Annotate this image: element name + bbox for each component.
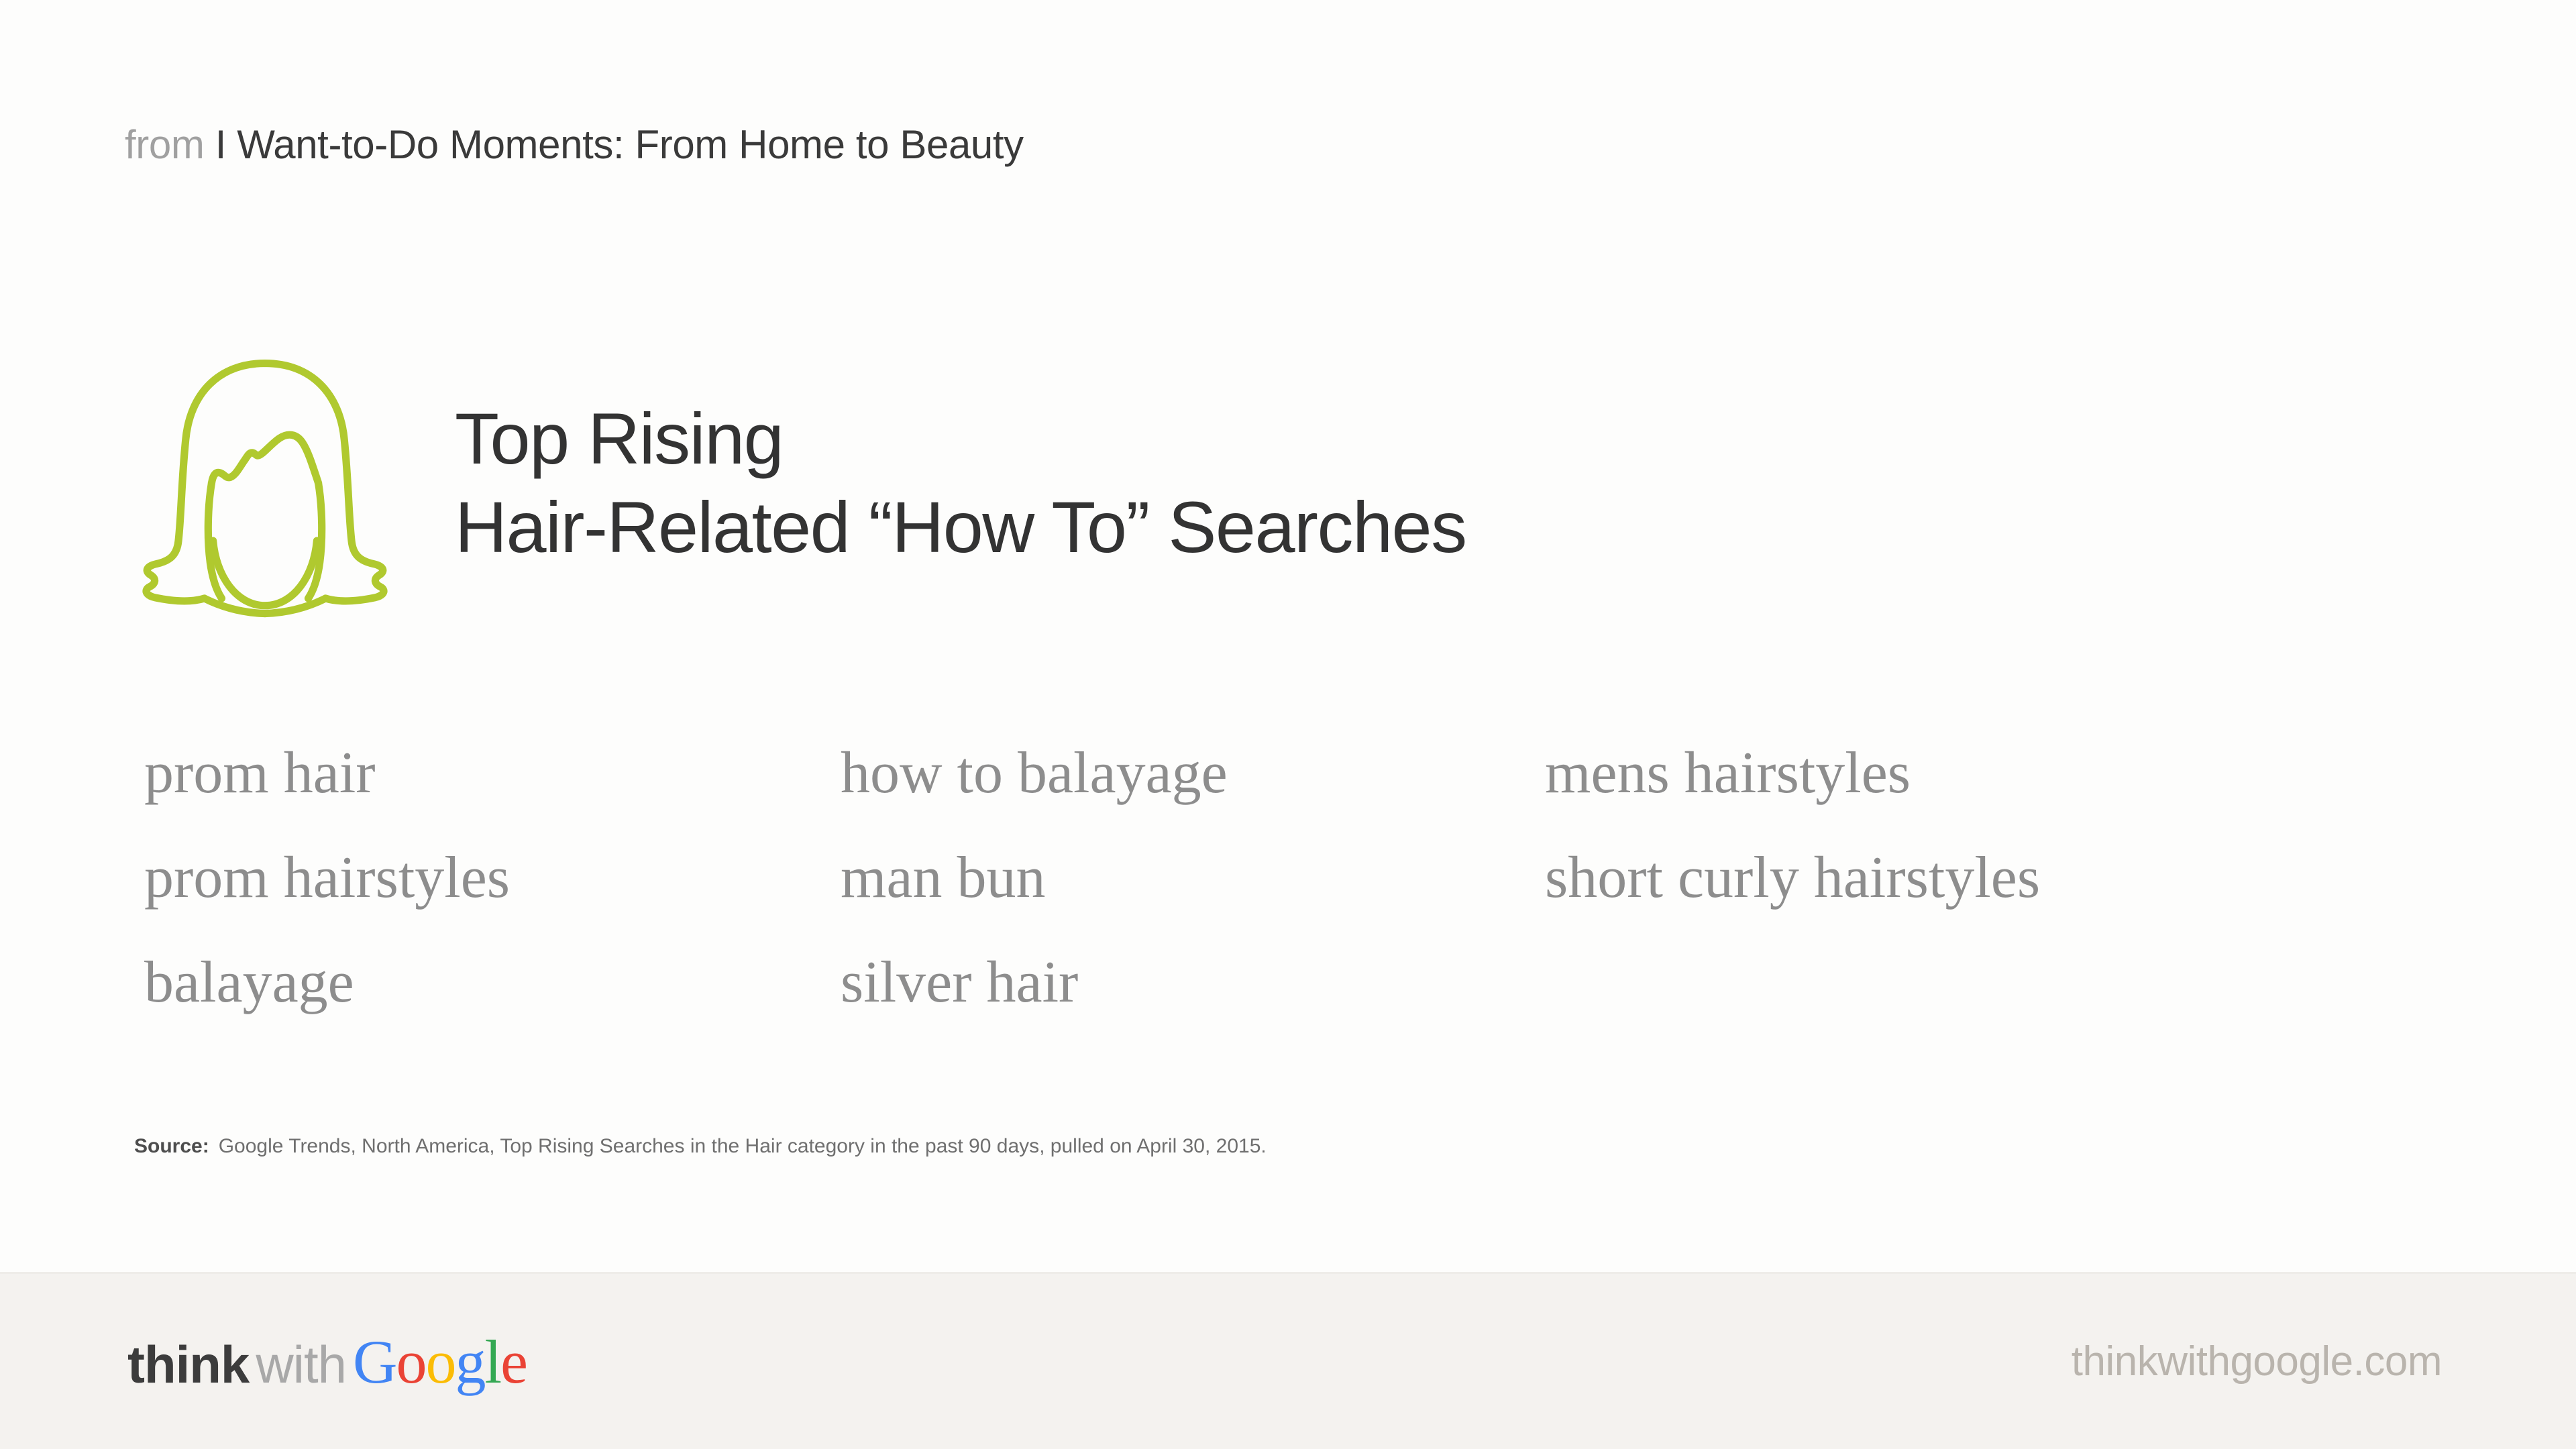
logo-google-wordmark: Google (353, 1331, 527, 1393)
logo-with-text: with (256, 1338, 346, 1391)
logo-google-letter: G (353, 1328, 396, 1396)
report-title: I Want-to-Do Moments: From Home to Beaut… (215, 122, 1024, 167)
infographic-slide: from I Want-to-Do Moments: From Home to … (0, 0, 2576, 1449)
source-note: Source:Google Trends, North America, Top… (134, 1132, 1267, 1161)
logo-google-letter: g (455, 1328, 485, 1396)
source-text: Google Trends, North America, Top Rising… (219, 1135, 1267, 1157)
list-item: prom hair (144, 721, 841, 826)
logo-google-letter: e (500, 1328, 527, 1396)
logo-google-letter: o (396, 1328, 426, 1396)
list-item: mens hairstyles (1545, 721, 2350, 826)
headline-line-2: Hair-Related “How To” Searches (455, 483, 1466, 572)
logo-think-text: think (127, 1338, 249, 1391)
think-with-google-logo[interactable]: thinkwithGoogle (127, 1331, 527, 1393)
list-item: balayage (144, 930, 841, 1035)
logo-google-letter: l (485, 1328, 501, 1396)
search-terms-column-3: mens hairstyles short curly hairstyles (1545, 721, 2350, 1035)
from-label: from (125, 122, 204, 167)
list-item: how to balayage (841, 721, 1545, 826)
list-item: prom hairstyles (144, 826, 841, 930)
page-title: Top Rising Hair-Related “How To” Searche… (455, 394, 1466, 572)
logo-google-letter: o (426, 1328, 455, 1396)
headline-block: Top Rising Hair-Related “How To” Searche… (121, 339, 1466, 627)
list-item: short curly hairstyles (1545, 826, 2350, 930)
search-terms-column-2: how to balayage man bun silver hair (841, 721, 1545, 1035)
list-item: silver hair (841, 930, 1545, 1035)
search-terms-column-1: prom hair prom hairstyles balayage (144, 721, 841, 1035)
list-item: man bun (841, 826, 1545, 930)
report-eyebrow: from I Want-to-Do Moments: From Home to … (125, 121, 1024, 169)
footer-bar: thinkwithGoogle thinkwithgoogle.com (0, 1272, 2576, 1449)
source-label: Source: (134, 1135, 209, 1157)
woman-hair-icon (121, 339, 409, 627)
headline-line-1: Top Rising (455, 394, 1466, 483)
search-terms-columns: prom hair prom hairstyles balayage how t… (144, 721, 2425, 1035)
footer-url[interactable]: thinkwithgoogle.com (2072, 1338, 2442, 1385)
